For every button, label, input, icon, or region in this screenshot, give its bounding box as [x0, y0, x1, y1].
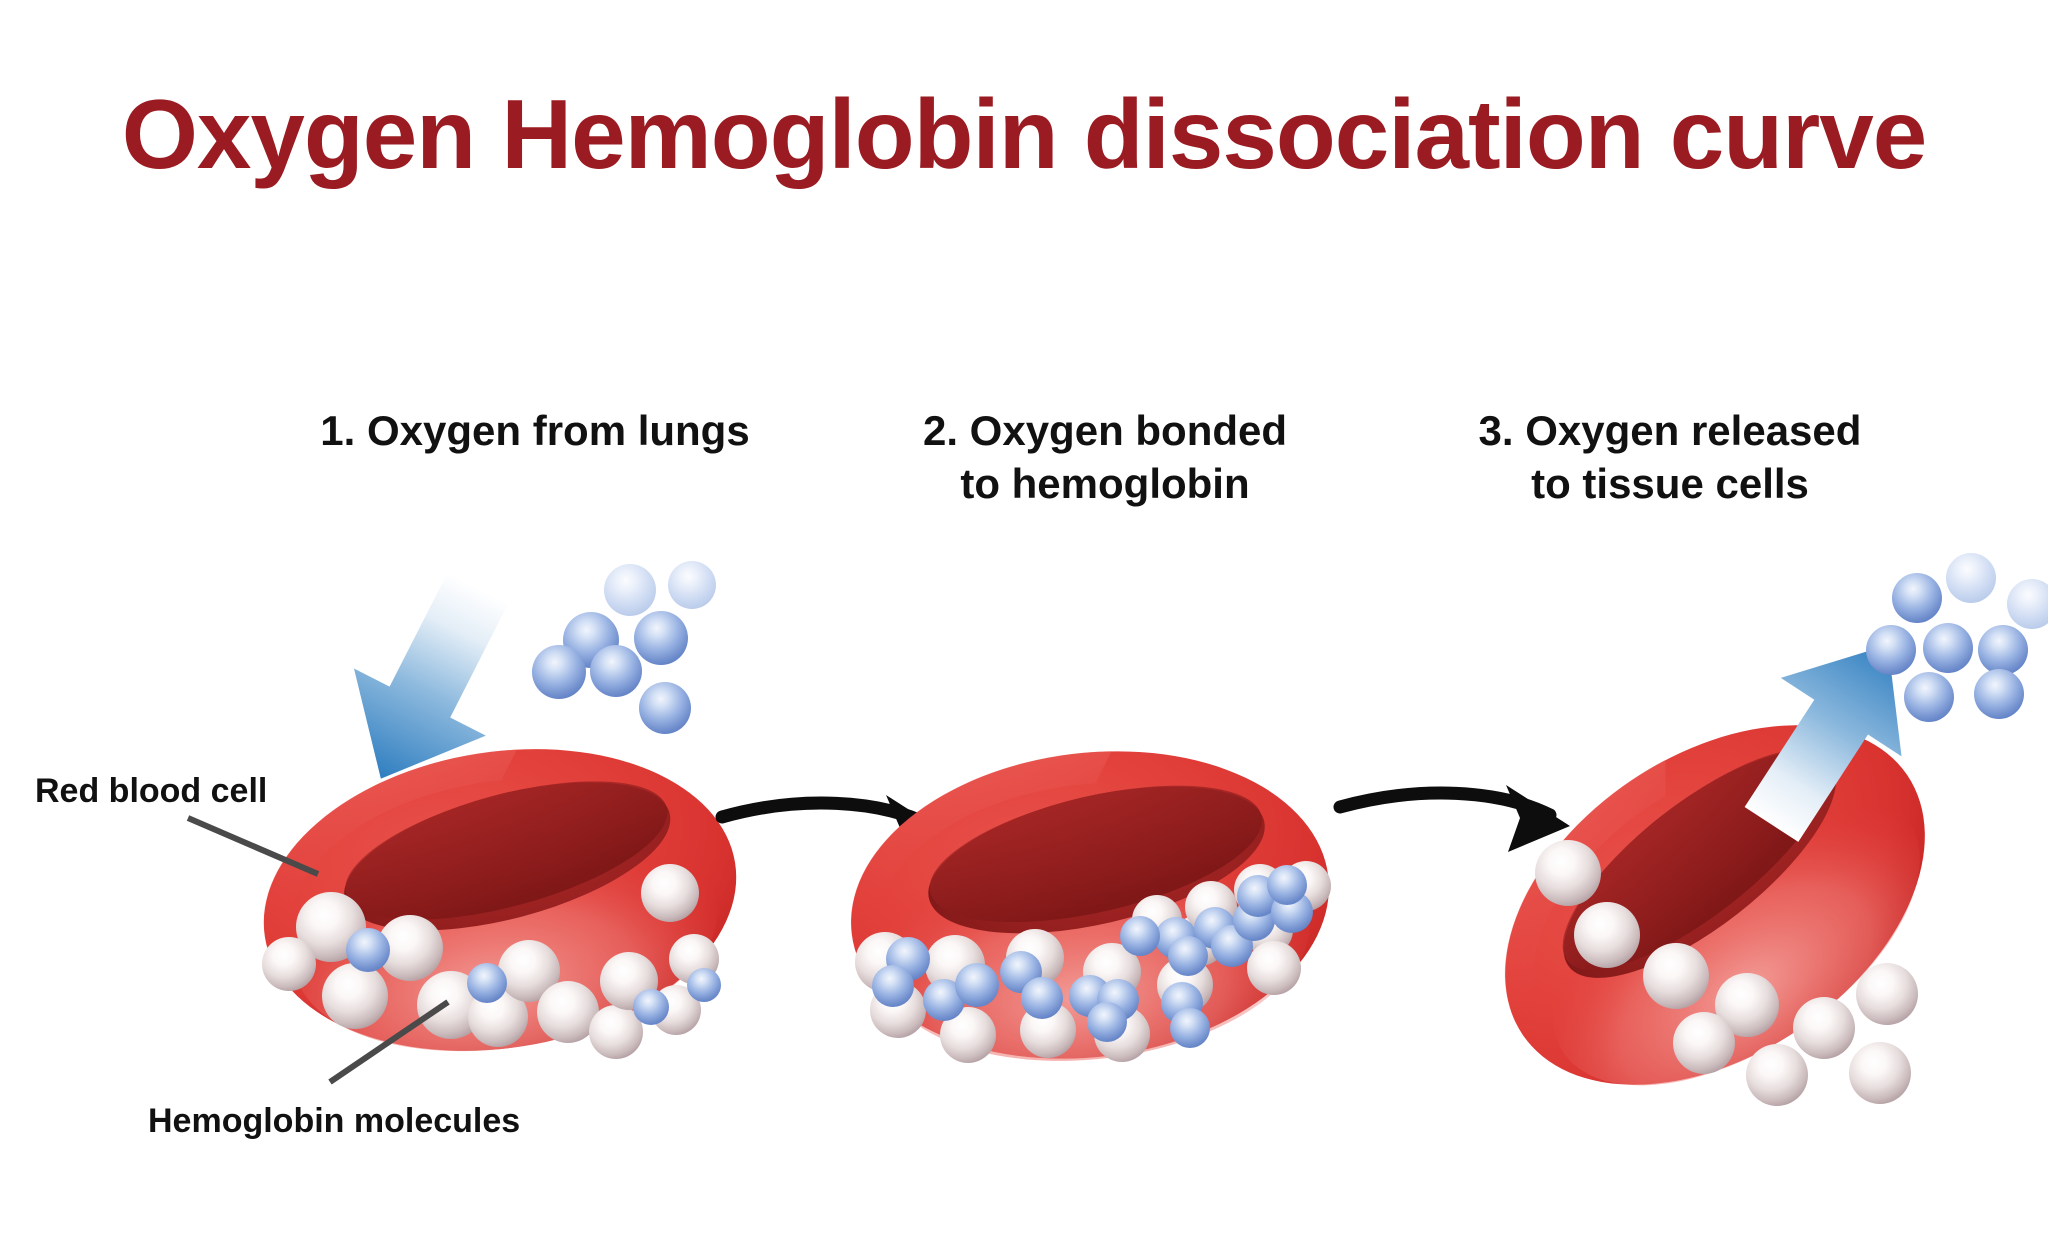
- illustration-layer: [0, 0, 2048, 1250]
- oxygen-molecule: [668, 561, 716, 609]
- hemoglobin-molecule: [1643, 943, 1709, 1009]
- oxygen-molecule: [1978, 625, 2028, 675]
- hemoglobin-molecule: [1535, 840, 1601, 906]
- oxygen-molecule: [687, 968, 721, 1002]
- oxygen-molecule: [346, 928, 390, 972]
- oxygen-molecule: [872, 965, 914, 1007]
- hemoglobin-molecule: [1673, 1012, 1735, 1074]
- oxygen-molecule: [1866, 625, 1916, 675]
- oxygen-cluster-step-1: [532, 561, 716, 734]
- oxygen-molecule: [532, 645, 586, 699]
- oxygen-molecule: [1923, 623, 1973, 673]
- oxygen-molecule: [1170, 1008, 1210, 1048]
- hemoglobin-molecule: [322, 963, 388, 1029]
- hemoglobin-molecule: [641, 864, 699, 922]
- oxygen-molecule: [1946, 553, 1996, 603]
- hemoglobin-molecule: [1793, 997, 1855, 1059]
- red-blood-cell-2: [833, 725, 1347, 1087]
- oxygen-molecule: [1904, 672, 1954, 722]
- oxygen-molecule: [1120, 916, 1160, 956]
- oxygen-molecule: [604, 564, 656, 616]
- oxygen-molecule: [1021, 977, 1063, 1019]
- hemoglobin-molecule: [1849, 1042, 1911, 1104]
- red-blood-cell-1: [242, 716, 758, 1083]
- oxygen-molecule: [634, 611, 688, 665]
- black-curved-arrow-icon-2: [1340, 785, 1570, 852]
- oxygen-molecule: [2007, 579, 2048, 629]
- oxygen-molecule: [590, 645, 642, 697]
- oxygen-molecule: [467, 963, 507, 1003]
- oxygen-molecule: [1892, 573, 1942, 623]
- oxygen-molecule: [1168, 936, 1208, 976]
- red-blood-cell-3: [1439, 651, 1992, 1159]
- diagram-canvas: Oxygen Hemoglobin dissociation curve 1. …: [0, 0, 2048, 1250]
- oxygen-molecule: [633, 989, 669, 1025]
- oxygen-molecule: [639, 682, 691, 734]
- hemoglobin-molecule: [1856, 963, 1918, 1025]
- oxygen-molecule: [955, 963, 999, 1007]
- hemoglobin-molecule: [1247, 941, 1301, 995]
- hemoglobin-molecule: [1746, 1044, 1808, 1106]
- oxygen-molecule: [1267, 865, 1307, 905]
- oxygen-molecule: [1087, 1002, 1127, 1042]
- hemoglobin-molecule: [262, 937, 316, 991]
- hemoglobin-molecule: [1574, 902, 1640, 968]
- oxygen-molecule: [1974, 669, 2024, 719]
